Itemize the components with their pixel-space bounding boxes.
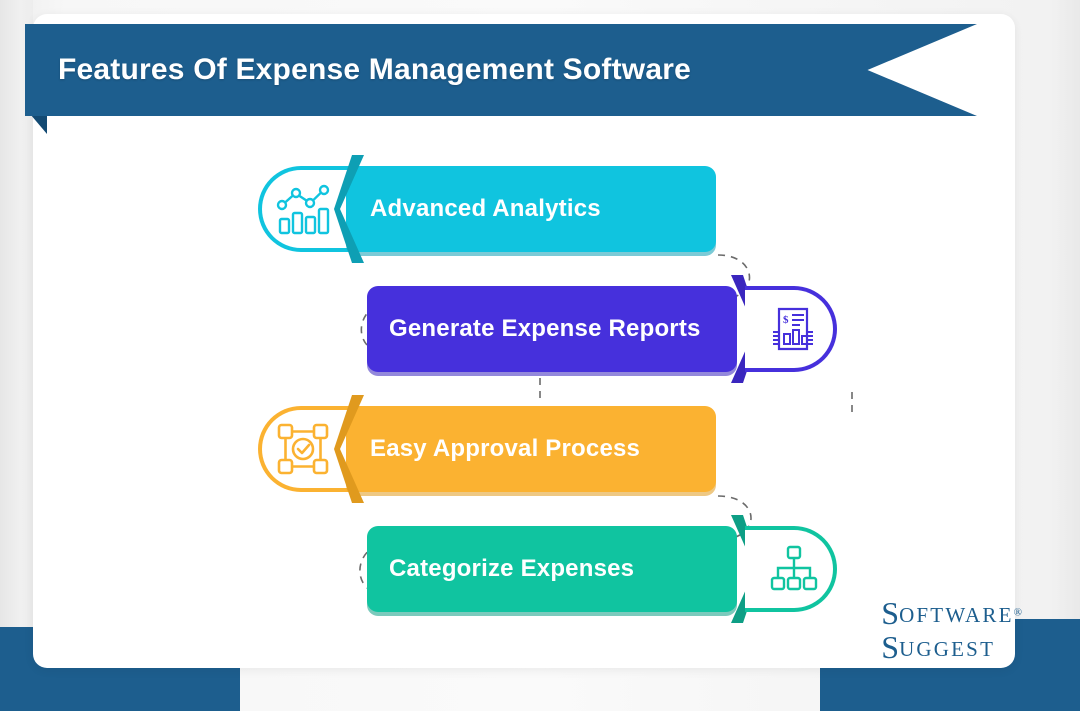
svg-text:$: $ <box>783 314 789 326</box>
page-title: Features Of Expense Management Software <box>58 24 691 116</box>
feature-row-4[interactable]: Categorize Expenses <box>367 526 827 626</box>
feature-label-4: Categorize Expenses <box>389 526 634 612</box>
expense-report-icon: $ <box>767 303 819 355</box>
logo-line-2: Suggest <box>881 631 1022 663</box>
brand-logo[interactable]: Software® Suggest <box>881 597 1022 663</box>
feature-label-1: Advanced Analytics <box>370 166 601 252</box>
icon-capsule-4 <box>745 526 837 612</box>
approval-workflow-icon <box>276 422 330 476</box>
infographic-canvas: Features Of Expense Management Software <box>0 0 1080 711</box>
feature-label-2: Generate Expense Reports <box>389 286 701 372</box>
feature-row-1[interactable]: Advanced Analytics <box>258 166 738 266</box>
logo-s-initial-2: S <box>881 629 899 665</box>
feature-row-3[interactable]: Easy Approval Process <box>258 406 738 506</box>
analytics-icon <box>276 183 332 235</box>
chevron-notch-1 <box>334 155 374 263</box>
category-tree-icon <box>769 544 819 594</box>
logo-line-1: Software® <box>881 597 1022 629</box>
logo-word-software: oftware <box>899 603 1014 627</box>
chevron-notch-3 <box>334 395 374 503</box>
title-ribbon: Features Of Expense Management Software <box>25 24 977 118</box>
feature-label-3: Easy Approval Process <box>370 406 640 492</box>
logo-s-initial-1: S <box>881 595 899 631</box>
icon-capsule-2: $ <box>745 286 837 372</box>
feature-row-2[interactable]: $ Generate Expense Reports <box>367 286 827 386</box>
logo-word-suggest: uggest <box>899 637 995 661</box>
registered-mark-icon: ® <box>1014 607 1022 619</box>
